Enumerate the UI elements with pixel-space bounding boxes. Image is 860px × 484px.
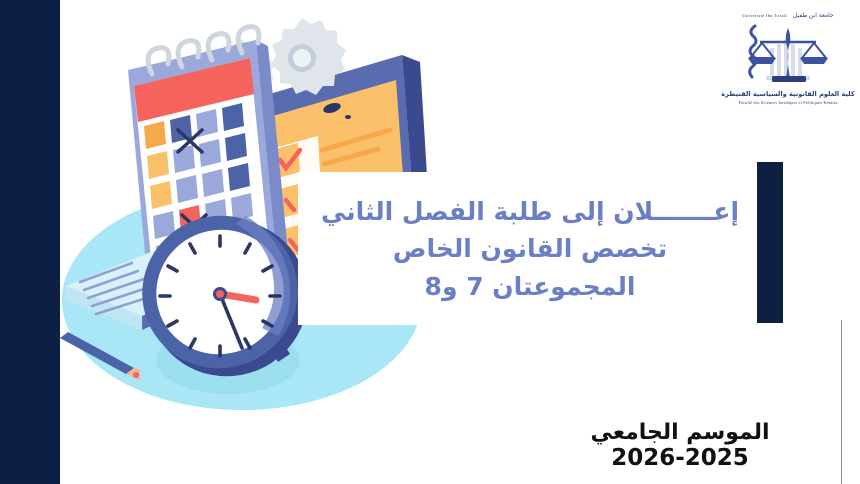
university-logo: Université Ibn Tofail جامعة ابن طفيل	[720, 4, 856, 124]
announcement-title-block: إعـــــــلان إلى طلبة الفصل الثاني تخصص …	[300, 170, 760, 328]
right-navy-accent-bar	[757, 162, 783, 323]
thin-vertical-rule	[841, 320, 842, 484]
announcement-poster: إعـــــــلان إلى طلبة الفصل الثاني تخصص …	[0, 0, 860, 484]
academic-season-years: 2026-2025	[560, 445, 800, 471]
left-navy-bar	[0, 0, 60, 484]
academic-season-block: الموسم الجامعي 2026-2025	[560, 420, 800, 472]
logo-university-french: Université Ibn Tofail	[742, 13, 787, 18]
announcement-line-1: إعـــــــلان إلى طلبة الفصل الثاني	[321, 196, 739, 227]
logo-university-names: Université Ibn Tofail جامعة ابن طفيل	[720, 12, 856, 19]
academic-season-label: الموسم الجامعي	[560, 420, 800, 445]
announcement-line-2: تخصص القانون الخاص	[393, 233, 667, 264]
scales-of-justice-icon	[742, 22, 834, 84]
logo-faculty-arabic: كلية العلوم القانونية والسياسية القنيطرة	[720, 90, 856, 98]
announcement-line-3: المجموعتان 7 و8	[425, 271, 636, 302]
logo-faculty-french: Faculté des Sciences Juridiques et Polit…	[720, 100, 856, 105]
logo-university-arabic: جامعة ابن طفيل	[793, 12, 834, 19]
